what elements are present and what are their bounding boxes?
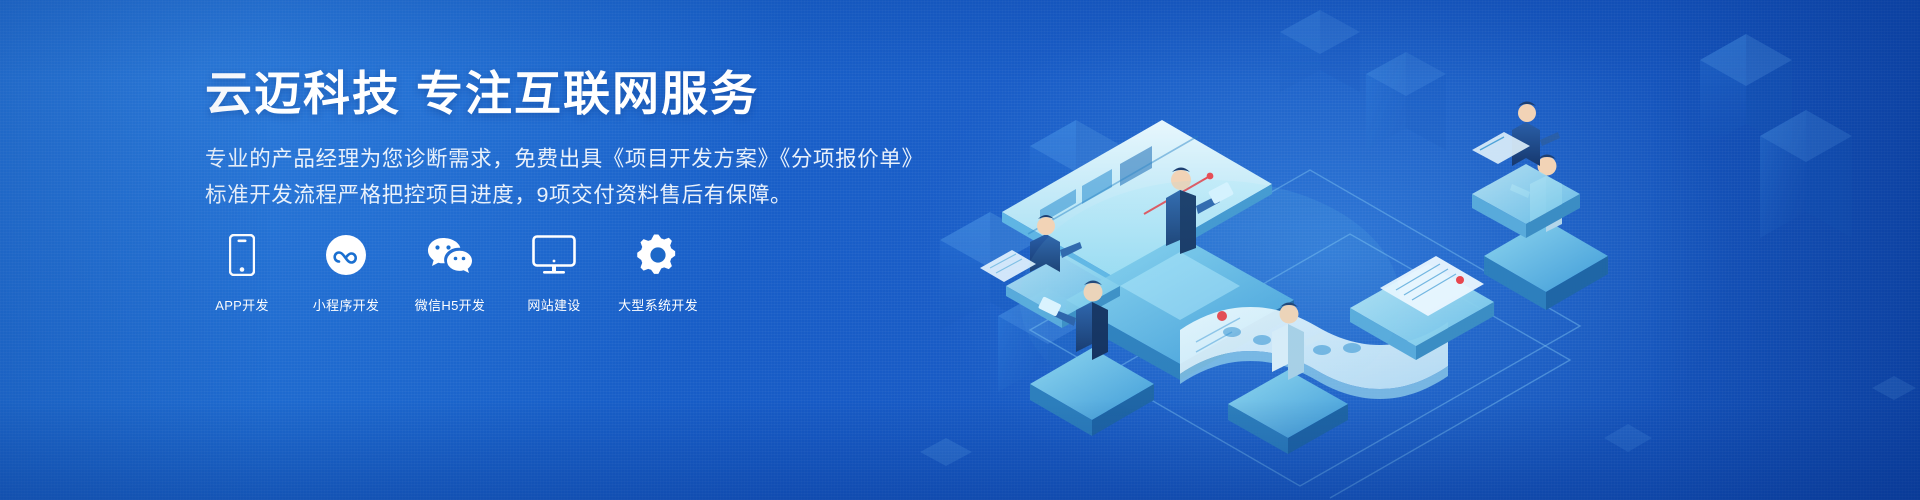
service-label-website: 网站建设 — [527, 295, 580, 314]
service-item-wechat-h5[interactable]: 微信H5开发 — [413, 232, 487, 314]
hero-copy: 云迈科技 专注互联网服务 专业的产品经理为您诊断需求，免费出具《项目开发方案》《… — [205, 68, 925, 215]
mini-program-icon — [325, 232, 367, 278]
service-label-mini-program: 小程序开发 — [313, 295, 380, 314]
service-icon-row: APP开发 小程序开发 微信 — [205, 232, 695, 314]
monitor-icon — [532, 232, 576, 278]
service-item-website[interactable]: 网站建设 — [517, 232, 591, 314]
wechat-icon — [426, 232, 474, 278]
service-item-mini-program[interactable]: 小程序开发 — [309, 232, 383, 314]
subtitle-line-2: 标准开发流程严格把控项目进度，9项交付资料售后有保障。 — [205, 178, 925, 213]
gear-icon — [637, 232, 679, 278]
service-item-large-system[interactable]: 大型系统开发 — [621, 232, 695, 314]
service-label-app: APP开发 — [215, 295, 269, 314]
figure-standing-top-right — [1512, 102, 1560, 167]
hero-illustration — [880, 0, 1920, 500]
service-label-wechat-h5: 微信H5开发 — [415, 295, 485, 314]
mobile-phone-icon — [229, 232, 255, 278]
hero-banner: 云迈科技 专注互联网服务 专业的产品经理为您诊断需求，免费出具《项目开发方案》《… — [0, 0, 1920, 500]
page-title: 云迈科技 专注互联网服务 — [205, 68, 925, 121]
service-item-app[interactable]: APP开发 — [205, 232, 279, 314]
service-label-large-system: 大型系统开发 — [618, 295, 698, 314]
hero-subtitle: 专业的产品经理为您诊断需求，免费出具《项目开发方案》《分项报价单》 标准开发流程… — [205, 142, 925, 214]
subtitle-line-1: 专业的产品经理为您诊断需求，免费出具《项目开发方案》《分项报价单》 — [205, 142, 925, 177]
